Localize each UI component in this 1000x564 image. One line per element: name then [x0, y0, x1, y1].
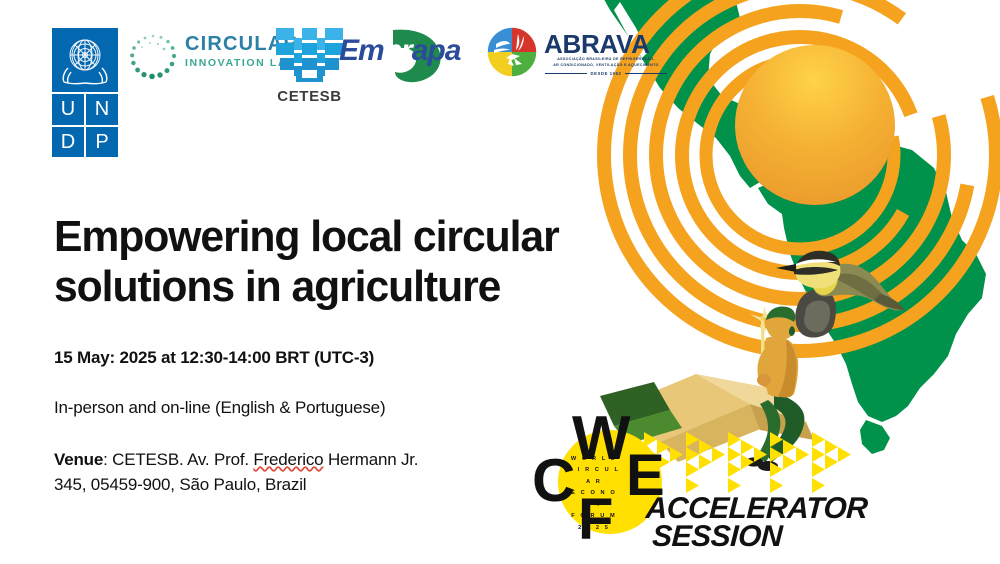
photo-sky — [735, 45, 895, 205]
embrapa-part-2: br — [384, 34, 412, 67]
headline-line-1: Empowering local circular — [54, 212, 675, 262]
abrava-subtitle: ASSOCIAÇÃO BRASILEIRA DE REFRIGERAÇÃO, A… — [545, 57, 667, 68]
page-title: Empowering local circular solutions in a… — [54, 212, 675, 312]
event-poster: C W E F W O R L D C I R C U L A R E C O … — [0, 0, 1000, 564]
abrava-logo: ABRAVA ASSOCIAÇÃO BRASILEIRA DE REFRIGER… — [486, 26, 671, 84]
abrava-wordmark: ABRAVA — [544, 29, 650, 60]
partner-logo-bar: U N D P — [0, 0, 700, 170]
un-emblem-block — [52, 28, 118, 92]
undp-logo: U N D P — [52, 28, 118, 157]
undp-letter-p: P — [86, 127, 118, 158]
photo-illustration — [735, 45, 895, 205]
event-date-time: 15 May: 2025 at 12:30-14:00 BRT (UTC-3) — [54, 348, 574, 368]
person-with-wind-turbine-graphic — [730, 300, 860, 480]
un-emblem-icon — [52, 28, 118, 92]
event-venue: Venue: CETESB. Av. Prof. Frederico Herma… — [54, 448, 574, 497]
cetesb-wordmark: CETESB — [272, 88, 347, 105]
embrapa-part-1: Em — [339, 34, 384, 67]
wcef-inner-line-1: W O R L D — [566, 454, 622, 465]
abrava-subtitle-line-2: AR CONDICIONADO, VENTILAÇÃO E AQUECIMENT… — [545, 63, 667, 69]
event-format: In-person and on-line (English & Portugu… — [54, 398, 574, 418]
undp-letter-u: U — [52, 94, 84, 125]
wcef-inner-line-4: F O R U M — [566, 511, 622, 522]
undp-letter-n: N — [86, 94, 118, 125]
venue-label: Venue — [54, 450, 103, 469]
accelerator-session-label: ACCELERATOR SESSION — [644, 495, 869, 550]
embrapa-logo: Embrapa — [337, 28, 477, 84]
great-kiskadee-bird-graphic — [772, 238, 904, 348]
venue-line-2: 345, 05459-900, São Paulo, Brazil — [54, 473, 574, 498]
abrava-since-text: DESDE 1962 — [591, 71, 622, 76]
venue-text-b: Hermann Jr. — [323, 450, 418, 469]
abrava-circle-icon — [486, 26, 538, 78]
dotted-circle-icon — [128, 32, 178, 82]
abrava-rule-left — [545, 73, 587, 74]
wcef-inner-line-2: C I R C U L A R — [566, 465, 622, 488]
venue-spellchecked-word: Frederico — [253, 450, 323, 469]
abrava-rule-right — [625, 73, 667, 74]
venue-text-a: : CETESB. Av. Prof. — [103, 450, 253, 469]
wcef-inner-line-5: 2 0 2 5 — [566, 523, 622, 534]
embrapa-part-3: apa — [412, 34, 461, 67]
abrava-since-line: DESDE 1962 — [545, 71, 667, 76]
cetesb-logo: CETESB — [272, 26, 347, 106]
accelerator-line-2: SESSION — [644, 523, 867, 551]
undp-letter-grid: U N D P — [52, 94, 118, 157]
wcef-inner-line-3: E C O N O M Y — [566, 488, 622, 511]
cetesb-mark-icon — [272, 26, 347, 86]
sao-paulo-photo — [735, 45, 895, 205]
event-details: 15 May: 2025 at 12:30-14:00 BRT (UTC-3) … — [54, 348, 574, 497]
undp-letter-d: D — [52, 127, 84, 158]
embrapa-wordmark: Embrapa — [339, 36, 479, 66]
wcef-inner-text: W O R L D C I R C U L A R E C O N O M Y … — [566, 454, 622, 534]
abrava-subtitle-line-1: ASSOCIAÇÃO BRASILEIRA DE REFRIGERAÇÃO, — [545, 57, 667, 63]
headline-line-2: solutions in agriculture — [54, 262, 675, 312]
